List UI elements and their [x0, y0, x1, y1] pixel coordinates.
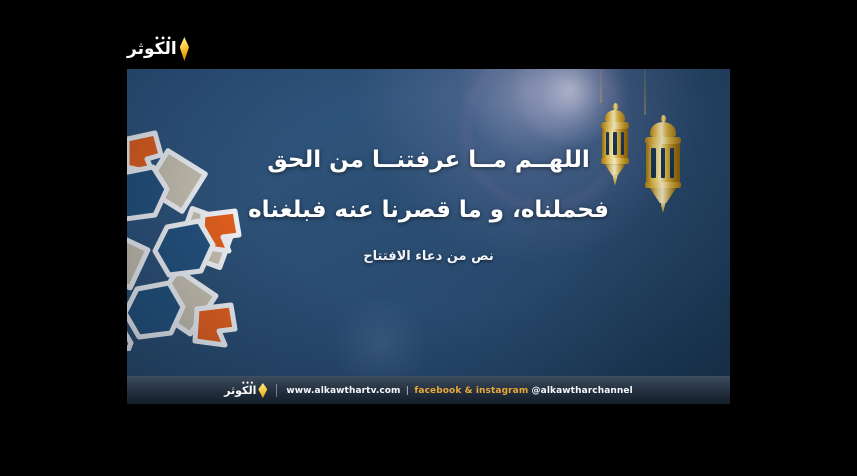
- social-handle[interactable]: @alkawtharchannel: [532, 386, 633, 396]
- infobar-contact-text: www.alkawthartv.com | facebook & instagr…: [286, 386, 632, 396]
- channel-info-bar: ••• الكوثر www.alkawthartv.com | faceboo…: [127, 376, 730, 404]
- lantern-cord: [601, 69, 602, 103]
- lantern-finial: [613, 103, 618, 110]
- lantern-cord: [645, 69, 646, 115]
- lantern-cap: [645, 137, 681, 144]
- lantern-dome: [650, 122, 675, 137]
- infobar-logo: ••• الكوثر: [224, 383, 267, 398]
- video-frame: اللهــم مــا عرفتنــا من الحق فحملناه، و…: [127, 69, 730, 404]
- infobar-logo-dots: •••: [241, 381, 254, 387]
- lantern-cap: [601, 122, 629, 129]
- lantern-dome: [605, 110, 625, 122]
- screen-root: ••• الكوثر: [0, 0, 857, 476]
- infobar-divider: [276, 384, 277, 397]
- website-url[interactable]: www.alkawthartv.com: [286, 386, 400, 396]
- infobar-channel-name: ••• الكوثر: [224, 385, 256, 396]
- quote-source: نص من دعاء الافتتاح: [127, 249, 730, 264]
- lantern-finial: [661, 115, 666, 122]
- channel-name-arabic: ••• الكوثر: [127, 41, 177, 58]
- text-separator: |: [404, 386, 411, 396]
- logo-dots: •••: [154, 35, 172, 43]
- lens-flare-core: [510, 69, 630, 145]
- channel-watermark-logo: ••• الكوثر: [127, 32, 189, 66]
- flame-diamond-icon: [180, 37, 189, 61]
- quote-line-2: فحملناه، و ما قصرنا عنه فبلغناه: [127, 199, 730, 222]
- quote-line-1: اللهــم مــا عرفتنــا من الحق: [127, 149, 730, 172]
- social-platforms: facebook & instagram: [414, 386, 528, 396]
- flame-diamond-icon: [258, 383, 267, 398]
- quote-block: اللهــم مــا عرفتنــا من الحق فحملناه، و…: [127, 149, 730, 264]
